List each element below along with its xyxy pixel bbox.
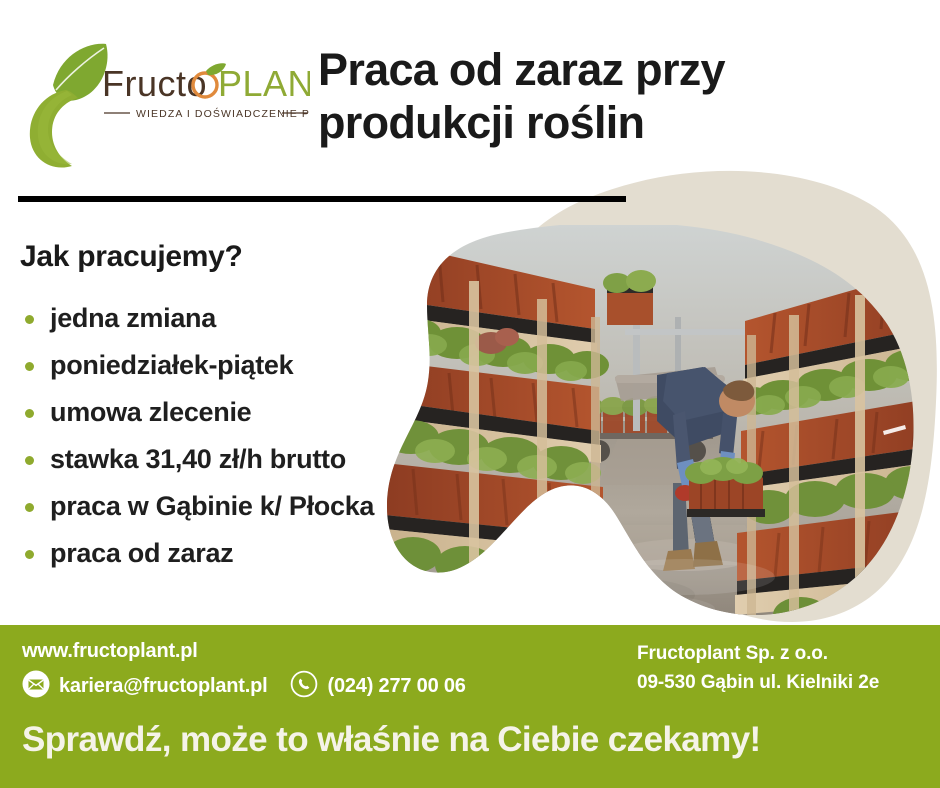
list-item: stawka 31,40 zł/h brutto xyxy=(20,443,440,476)
leaf-fruit-mark-icon xyxy=(30,44,108,168)
bullet-dot-icon xyxy=(25,362,34,371)
bullet-dot-icon xyxy=(25,550,34,559)
page-title: Praca od zaraz przy produkcji roślin xyxy=(318,43,918,149)
list-item: praca w Gąbinie k/ Płocka xyxy=(20,490,440,523)
website-link[interactable]: www.fructoplant.pl xyxy=(22,640,466,663)
list-item: jedna zmiana xyxy=(20,302,440,335)
list-item-label: praca w Gąbinie k/ Płocka xyxy=(50,491,374,521)
email-link[interactable]: kariera@fructoplant.pl xyxy=(59,675,267,698)
cta-text: Sprawdź, może to właśnie na Ciebie czeka… xyxy=(22,720,761,760)
contact-row: kariera@fructoplant.pl (024) 277 00 06 xyxy=(22,670,466,703)
logo-name-part-2: PLANT xyxy=(218,63,310,104)
section-heading: Jak pracujemy? xyxy=(20,240,243,274)
benefits-list: jedna zmiana poniedziałek-piątek umowa z… xyxy=(20,302,440,584)
contact-block: www.fructoplant.pl kariera@fructoplant.p… xyxy=(22,640,466,703)
bullet-dot-icon xyxy=(25,503,34,512)
phone-icon xyxy=(290,670,318,703)
headline-line-2: produkcji roślin xyxy=(318,96,918,149)
bullet-dot-icon xyxy=(25,456,34,465)
header-divider xyxy=(18,196,626,202)
list-item: poniedziałek-piątek xyxy=(20,349,440,382)
list-item: praca od zaraz xyxy=(20,537,440,570)
headline-line-1: Praca od zaraz przy xyxy=(318,43,918,96)
list-item-label: stawka 31,40 zł/h brutto xyxy=(50,444,346,474)
fructoplant-logo: Fructo PLANT WIEDZA I DOŚWIADCZENIE POKO… xyxy=(20,38,310,168)
list-item-label: jedna zmiana xyxy=(50,303,216,333)
job-ad-poster: Fructo PLANT WIEDZA I DOŚWIADCZENIE POKO… xyxy=(0,0,940,788)
company-address-line: 09-530 Gąbin ul. Kielniki 2e xyxy=(637,669,879,698)
logo-name-part-1: Fructo xyxy=(102,63,207,104)
list-item-label: praca od zaraz xyxy=(50,538,233,568)
bullet-dot-icon xyxy=(25,409,34,418)
list-item: umowa zlecenie xyxy=(20,396,440,429)
bullet-dot-icon xyxy=(25,315,34,324)
company-name: Fructoplant Sp. z o.o. xyxy=(637,640,879,669)
list-item-label: umowa zlecenie xyxy=(50,397,251,427)
greenhouse-photo xyxy=(385,225,940,625)
company-address: Fructoplant Sp. z o.o. 09-530 Gąbin ul. … xyxy=(637,640,879,697)
phone-number[interactable]: (024) 277 00 06 xyxy=(327,675,465,698)
list-item-label: poniedziałek-piątek xyxy=(50,350,293,380)
envelope-icon xyxy=(22,670,50,703)
